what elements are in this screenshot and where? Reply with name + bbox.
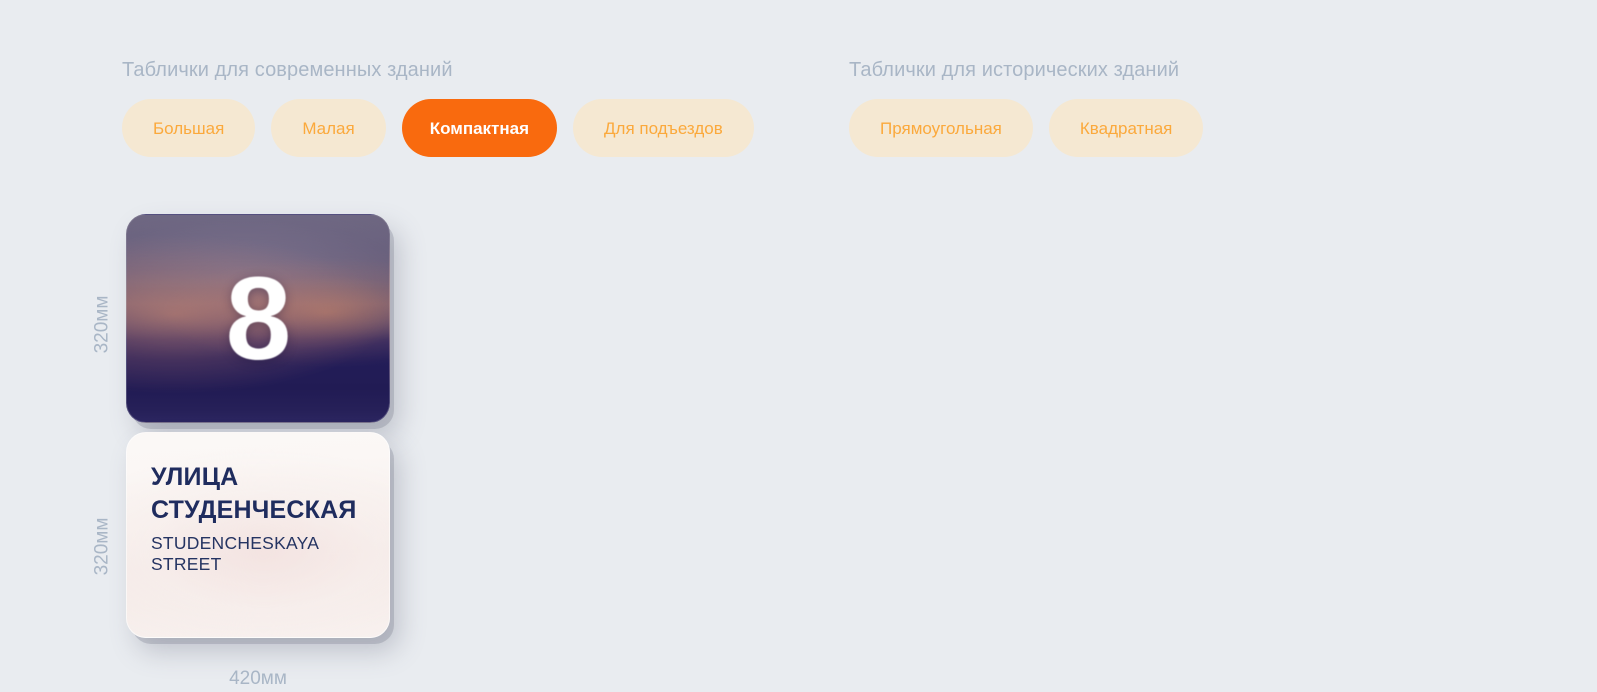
plaque-type-group-historic: Таблички для исторических зданий Прямоуг… (849, 60, 1203, 157)
plaque-type-group-modern: Таблички для современных зданий Большая … (122, 60, 754, 157)
plaque-type-options-modern: Большая Малая Компактная Для подъездов (122, 99, 754, 157)
plaque-preview: 8 УЛИЦА СТУДЕНЧЕСКАЯ STUDENCHESKAYA STRE… (126, 214, 390, 638)
plaque-type-options-historic: Прямоугольная Квадратная (849, 99, 1203, 157)
house-number-text: 8 (126, 214, 390, 423)
street-name-line-1: УЛИЦА (151, 461, 365, 494)
street-name-line-2: СТУДЕНЧЕСКАЯ (151, 494, 365, 527)
plaque-type-kompaktnaya[interactable]: Компактная (402, 99, 557, 157)
number-plate-wrapper: 8 (126, 214, 390, 423)
group-heading-modern: Таблички для современных зданий (122, 60, 754, 80)
plaque-type-pryamougolnaya[interactable]: Прямоугольная (849, 99, 1033, 157)
plaque-type-malaya[interactable]: Малая (271, 99, 385, 157)
street-name-latin: STUDENCHESKAYA STREET (151, 533, 365, 575)
group-heading-historic: Таблички для исторических зданий (849, 60, 1203, 80)
street-name-plate[interactable]: УЛИЦА СТУДЕНЧЕСКАЯ STUDENCHESKAYA STREET (126, 432, 390, 638)
plaque-type-kvadratnaya[interactable]: Квадратная (1049, 99, 1204, 157)
dimension-label-number-plate-height: 320мм (93, 275, 112, 375)
street-name-cyrillic: УЛИЦА СТУДЕНЧЕСКАЯ (151, 461, 365, 528)
dimension-label-plate-width: 420мм (126, 669, 390, 688)
plaque-type-dlya-podezdov[interactable]: Для подъездов (573, 99, 754, 157)
plaque-type-bolshaya[interactable]: Большая (122, 99, 255, 157)
plaque-configurator: Таблички для современных зданий Большая … (0, 0, 1597, 692)
dimension-label-street-plate-height: 320мм (93, 497, 112, 597)
